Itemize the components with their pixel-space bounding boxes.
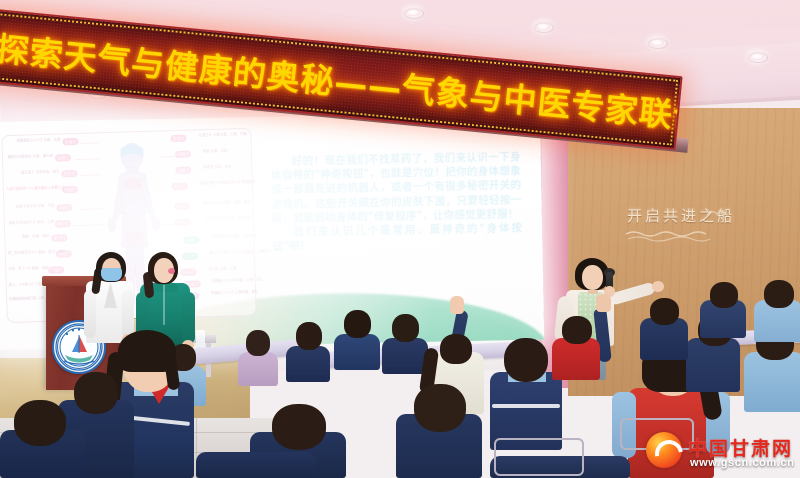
wave-decoration-icon [624,228,714,244]
raised-hand-icon [596,294,611,312]
acupoint-caption: 膝下三寸旁开上2寸 心烦意乱、心神不宁 [210,250,252,256]
acupoint-caption: 胸胁、肋痛、胸闷 [9,234,49,240]
surgical-mask-icon [101,268,122,281]
student-head [650,298,679,325]
acupoint-caption: 肩部大椎穴与肩峰连线中点 肩颈酸痛 [200,180,250,186]
slide-paragraph-1: 好的！现在我们不找草药了，我们来认识一下身体自带的“神奇按钮”，也就是穴位！把你… [271,150,522,226]
student-head [344,310,371,338]
doctor-right-arm [122,290,134,338]
acupoint-pill: 天枢穴 [174,203,190,210]
student-head [272,404,326,450]
student-head [74,372,118,414]
slide-paragraph-2: 我们来认识几个最常用、最神奇的“身体按钮”吧！ [272,221,522,254]
acupoint-pill: 合谷穴 [180,268,196,275]
acupoint-caption: 平脐、脐下2寸 腹痛、便秘 [8,266,46,272]
acupoint-pill: 期门穴 [51,234,67,241]
student-head [14,400,66,446]
acupoint-caption: 锁骨下窝外侧 咳嗽、气喘 [10,204,54,210]
acupoint-pill: 足三里 [182,252,198,259]
acupoint-caption: 虎口处 头痛、牙痛 [208,266,250,272]
ceiling-downlight-2 [536,23,550,30]
student-uniform [286,346,330,382]
acupoint-caption: 眉梢与外眼角间 头痛、偏头痛 [7,154,53,160]
student-uniform [552,338,600,380]
acupoint-caption: 肩胛上窝中央 肩痛、颈痛、落枕 [202,200,250,206]
doctor-left-arm [84,290,96,338]
student-uniform [686,338,740,392]
student-head [562,316,592,344]
student-head [710,282,738,308]
watermark-swirl-icon [650,435,689,474]
host-jacket-zipper [163,285,165,325]
acupoint-caption: 瞳孔直下 目赤肿痛、眼花 [11,169,59,175]
acupoint-caption: 肚脐旁开两寸 腹痛、消化不良 [211,234,251,240]
ceiling-downlight-1 [406,9,420,16]
acupoint-caption: 两乳头连线的中点 胸闷、心悸 [9,220,53,226]
student-uniform [744,352,800,412]
ceiling-downlight-4 [750,53,764,60]
acupoint-pill: 肩井穴 [172,183,188,190]
acupoint-connector [161,224,175,225]
chair-back [494,438,584,476]
acupoint-pill: 头维穴 [62,138,78,145]
student-head [504,338,548,382]
student-uniform [382,338,428,374]
acupoint-pill: 带脉穴 [183,236,199,243]
acupoint-caption: 心窝正下方 消化不良、胃胀胃痛 [203,216,251,222]
student-head [246,330,270,356]
acupoint-pill: 膻中穴 [55,220,71,227]
acupoint-caption: 前额发际上0.5寸 头痛、头晕 [8,137,60,143]
watermark: 中国甘肃网 www.gscn.com.cn [646,432,794,472]
host-right-arm [182,292,195,344]
acupoint-connector [75,158,101,160]
student-uniform [238,352,278,386]
uniform-stripe [492,404,560,408]
watermark-url-text: www.gscn.com.cn [690,457,795,469]
acupoint-pill: 四白穴 [61,170,77,177]
student-uniform [196,452,316,478]
speaker-face [582,265,603,290]
bird-decoration-icon [706,206,728,220]
acupoint-pill: 中脘穴 [175,219,191,226]
student-head [764,280,794,308]
ceiling-downlight-3 [650,39,664,46]
acupoint-pill: 太阳穴 [55,154,71,161]
acupoint-caption: 两眉 头痛、目眩 [203,148,247,154]
acupoint-caption: 鼻翼旁 鼻塞、鼻炎 [203,164,247,170]
acupoint-pill: 迎香穴 [175,167,191,174]
raised-hand-icon [450,296,464,314]
slide-body-text: 好的！现在我们不找草药了，我们来认识一下身体自带的“神奇按钮”，也就是穴位！把你… [271,150,523,254]
acupoint-connector [159,156,175,157]
acupoint-caption: 腕横纹上4寸中 胃痛、心悸、恶心 [213,278,253,284]
acupoint-caption: 第二肋间隙旁开6寸 腹痛、腹泻、肠鸣 [8,250,54,256]
student-uniform [334,334,380,370]
acupoint-caption: 掌横纹上1.5寸 心悸失眠、健忘 [211,290,253,296]
acupoint-connector [79,174,101,176]
acupoint-pill: 中府穴 [56,204,72,211]
acupoint-pill: 印堂穴 [175,151,191,158]
student-head [392,314,419,342]
hair-tie [168,268,175,274]
watermark-logo-icon [646,432,682,468]
photo-scene: 开启共进之船 [0,0,800,478]
student-head [414,384,466,432]
student-head [296,322,322,350]
student-head [440,334,472,364]
speaker-right-hand [652,281,664,292]
acupoint-pill: 百会穴 [170,135,186,142]
acupoint-caption: 人迎穴即刺杀人穴 最厉害的人身要穴之一 [6,185,60,191]
acupoint-pill: 气海穴 [48,266,64,273]
acupoint-connector [81,142,99,144]
acupoint-caption: 头顶正中 头痛头晕、心悸、失眠 [198,132,248,138]
